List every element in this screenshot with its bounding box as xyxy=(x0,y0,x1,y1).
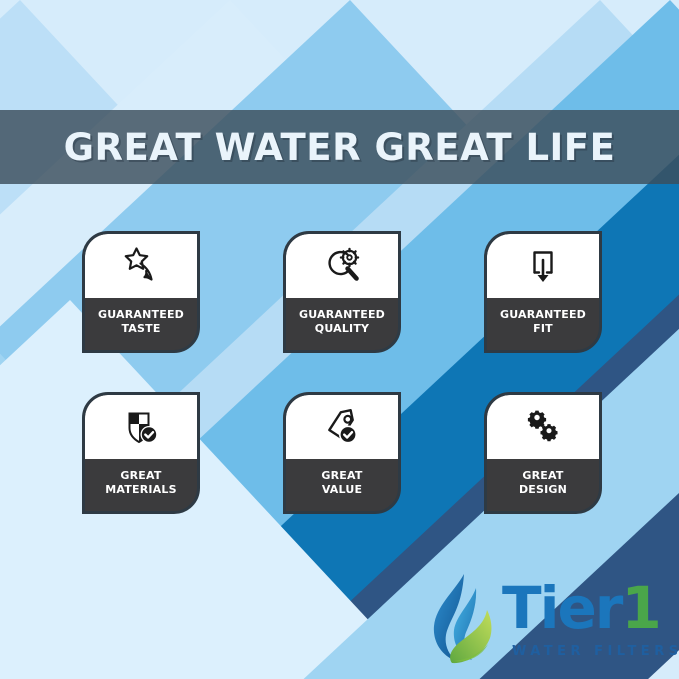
badge-label-line1: GREAT xyxy=(120,469,161,483)
magnifier-gear-icon xyxy=(319,243,365,289)
badge-icon-panel xyxy=(286,234,398,298)
badge-icon-panel xyxy=(487,395,599,459)
headline-banner: GREAT WATER GREAT LIFE xyxy=(0,110,679,184)
badge-row: GREAT MATERIALS GREAT VAL xyxy=(82,392,603,514)
badge-label: GUARANTEED TASTE xyxy=(85,298,197,350)
water-drop-leaf-icon xyxy=(424,568,504,668)
badge-label-line1: GUARANTEED xyxy=(299,308,385,322)
badge-row: GUARANTEED TASTE xyxy=(82,231,603,353)
badge-label-line1: GREAT xyxy=(522,469,563,483)
badge-great-design[interactable]: GREAT DESIGN xyxy=(484,392,602,514)
badge-label-line1: GREAT xyxy=(321,469,362,483)
headline-text: GREAT WATER GREAT LIFE xyxy=(64,126,616,169)
gear-large-glyph xyxy=(528,411,546,429)
logo-brand-name: Tier xyxy=(502,574,621,642)
badge-guaranteed-fit[interactable]: GUARANTEED FIT xyxy=(484,231,602,353)
badge-guaranteed-quality[interactable]: GUARANTEED QUALITY xyxy=(283,231,401,353)
badge-label: GREAT MATERIALS xyxy=(85,459,197,511)
badge-label: GREAT DESIGN xyxy=(487,459,599,511)
badge-icon-panel xyxy=(85,395,197,459)
promo-poster: GREAT WATER GREAT LIFE GUARANTEED TASTE xyxy=(0,0,679,679)
box-down-arrow-icon xyxy=(520,243,566,289)
gear-small-glyph xyxy=(540,424,557,441)
badge-great-value[interactable]: GREAT VALUE xyxy=(283,392,401,514)
badge-guaranteed-taste[interactable]: GUARANTEED TASTE xyxy=(82,231,200,353)
logo-brand-text: Tier1 xyxy=(502,578,660,638)
logo-brand-numeral: 1 xyxy=(621,574,659,642)
logo-tagline: WATER FILTERS xyxy=(512,644,679,659)
logo-wordmark: Tier1 ™ xyxy=(502,578,660,638)
badge-label: GUARANTEED QUALITY xyxy=(286,298,398,350)
badge-label-line1: GUARANTEED xyxy=(500,308,586,322)
badge-label: GUARANTEED FIT xyxy=(487,298,599,350)
feature-badge-grid: GUARANTEED TASTE xyxy=(82,231,603,514)
badge-label-line2: MATERIALS xyxy=(105,483,176,497)
shield-check-icon xyxy=(118,404,164,450)
gears-icon xyxy=(520,404,566,450)
badge-great-materials[interactable]: GREAT MATERIALS xyxy=(82,392,200,514)
badge-label-line2: VALUE xyxy=(322,483,362,497)
shooting-star-icon xyxy=(118,243,164,289)
badge-icon-panel xyxy=(286,395,398,459)
badge-label-line2: DESIGN xyxy=(519,483,567,497)
brand-logo: Tier1 ™ WATER FILTERS xyxy=(424,568,662,668)
badge-icon-panel xyxy=(487,234,599,298)
badge-label-line1: GUARANTEED xyxy=(98,308,184,322)
badge-label-line2: TASTE xyxy=(121,322,160,336)
price-tag-check-icon xyxy=(319,404,365,450)
badge-label-line2: QUALITY xyxy=(315,322,369,336)
badge-label-line2: FIT xyxy=(533,322,553,336)
badge-label: GREAT VALUE xyxy=(286,459,398,511)
gear-glyph xyxy=(341,249,358,266)
badge-icon-panel xyxy=(85,234,197,298)
